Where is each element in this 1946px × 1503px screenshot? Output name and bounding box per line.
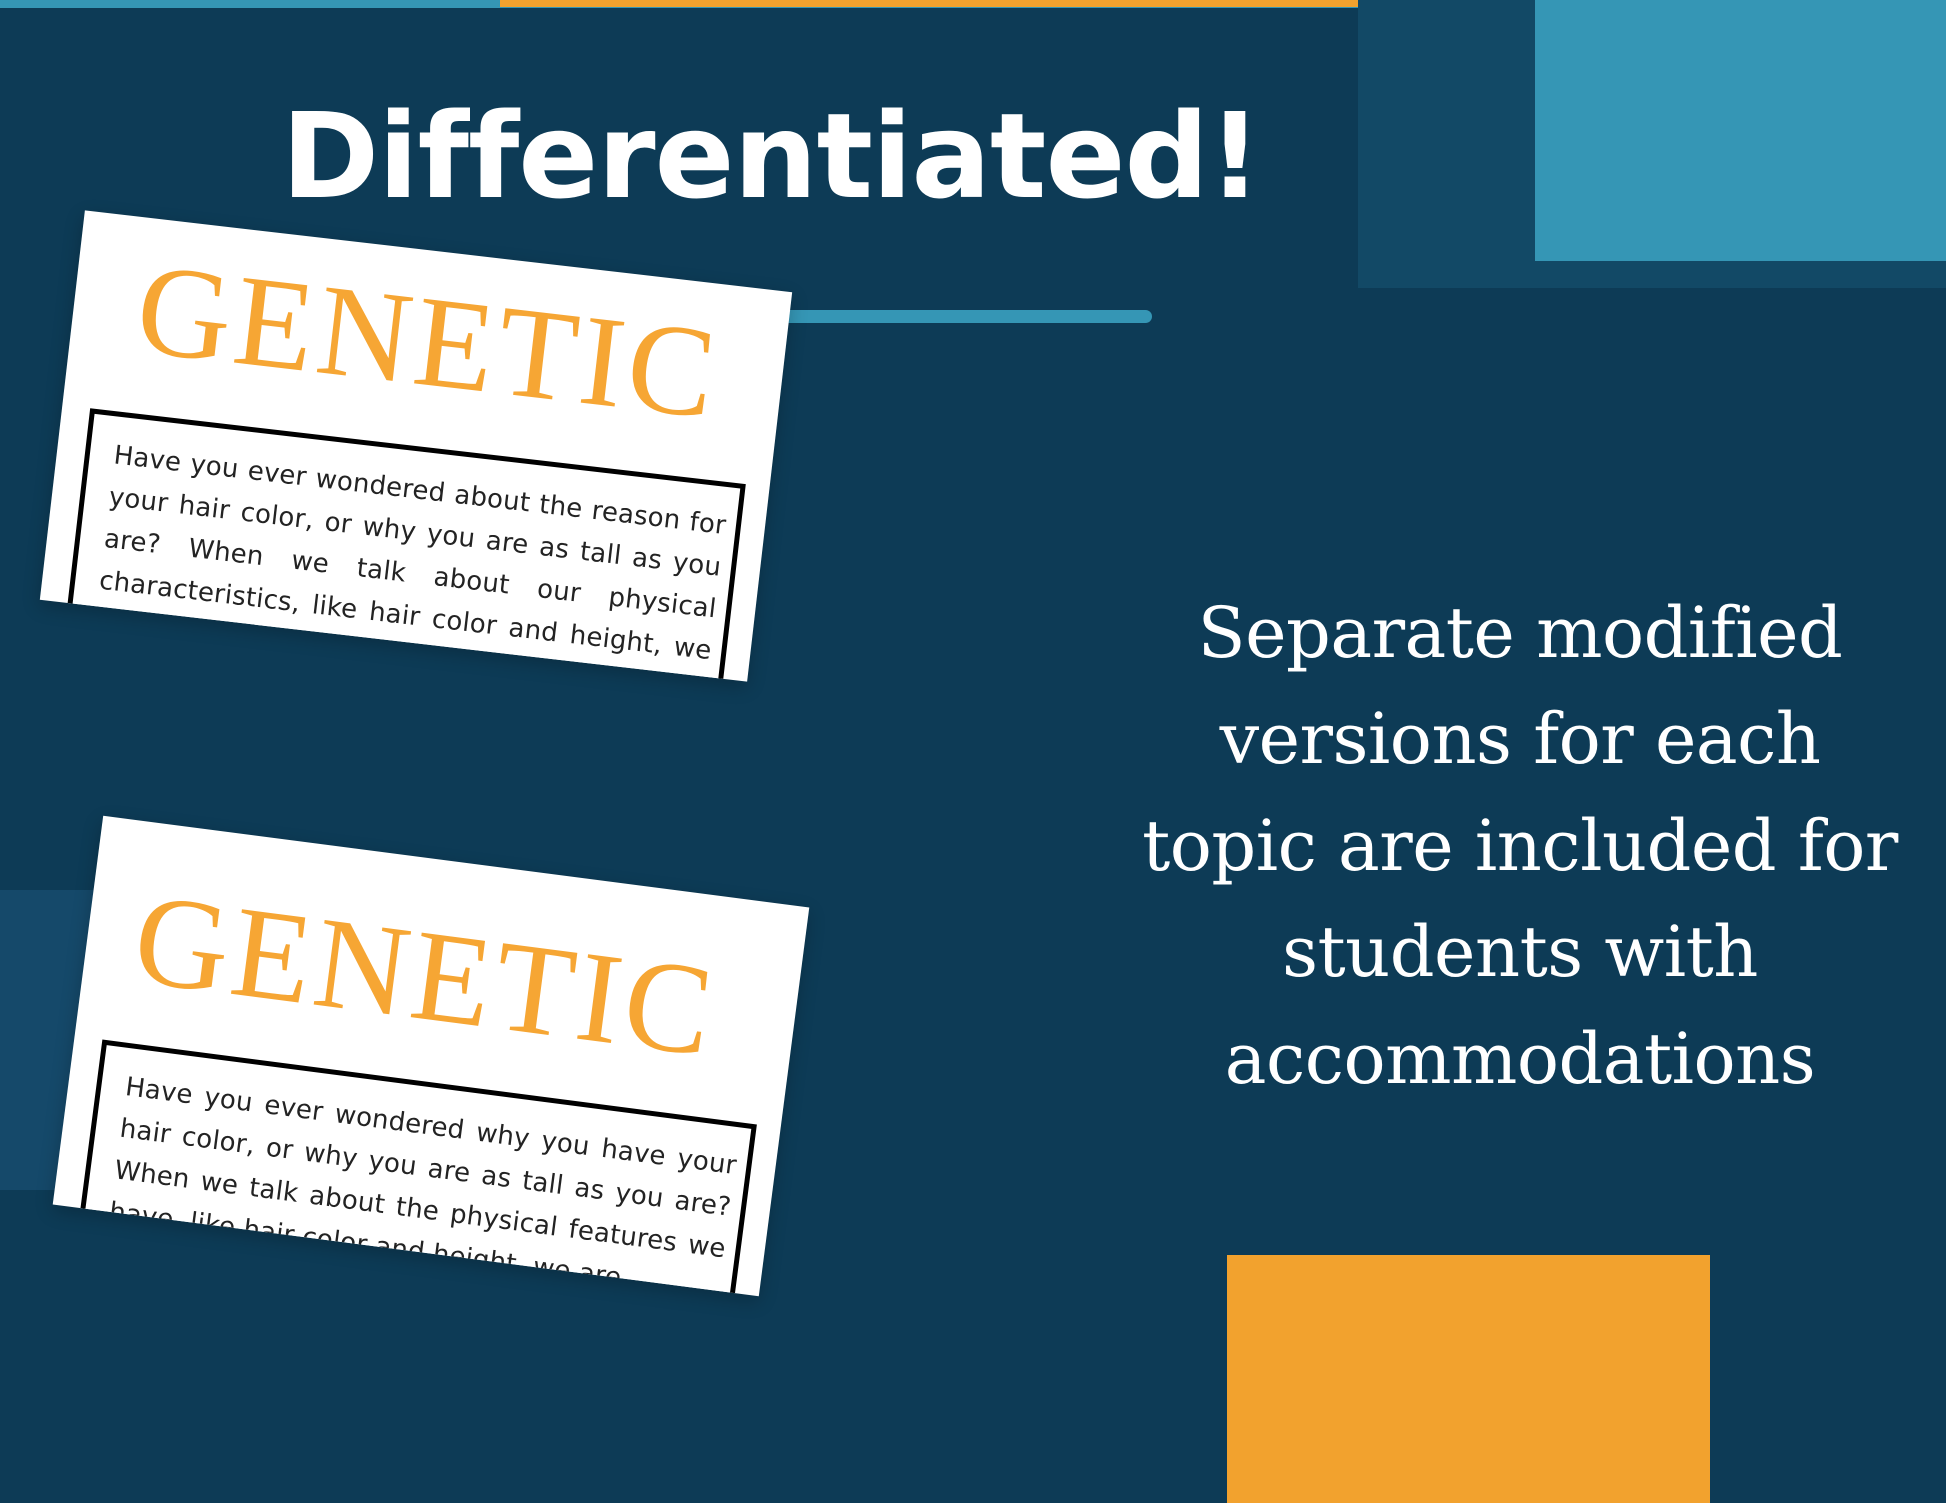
worksheet-heading: GENETIC [127, 874, 723, 1078]
slide-title: Differentiated! [0, 92, 1542, 222]
worksheet-text-box: Have you ever wondered about the reason … [60, 408, 746, 681]
slide-description-text: Separate modified versions for each topi… [1140, 580, 1900, 1112]
worksheet-card-top: GENETIC Have you ever wondered about the… [40, 210, 792, 681]
worksheet-text-box: Have you ever wondered why you have your… [69, 1040, 757, 1297]
worksheet-card-bottom: GENETIC Have you ever wondered why you h… [53, 816, 810, 1296]
worksheet-paragraph: Have you ever wondered why you have your… [106, 1066, 739, 1296]
top-right-teal-block [1535, 0, 1946, 261]
slide-canvas: Differentiated! Separate modified versio… [0, 0, 1946, 1503]
title-underline-accent [760, 310, 1152, 323]
worksheet-heading: GENETIC [131, 244, 726, 440]
worksheet-paragraph: Have you ever wondered about the reason … [92, 434, 728, 681]
bottom-right-orange-block [1227, 1255, 1710, 1503]
